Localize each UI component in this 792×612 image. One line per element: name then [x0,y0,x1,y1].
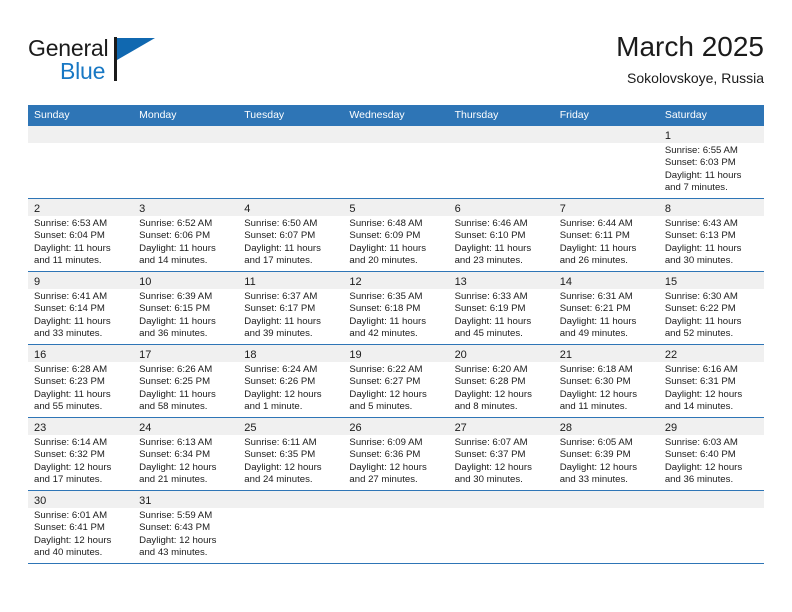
day-detail-line: Daylight: 12 hours [349,389,442,401]
day-detail-line: Sunset: 6:41 PM [34,522,127,534]
day-number-band [449,126,554,143]
week-row: 16Sunrise: 6:28 AMSunset: 6:23 PMDayligh… [28,345,764,418]
day-detail-line: and 8 minutes. [455,401,548,413]
day-detail-line: and 45 minutes. [455,328,548,340]
day-detail-line: Sunrise: 6:41 AM [34,291,127,303]
day-cell-empty [449,491,554,563]
day-cell-empty [343,126,448,198]
week-row: 1Sunrise: 6:55 AMSunset: 6:03 PMDaylight… [28,126,764,199]
day-detail-line: Daylight: 11 hours [139,389,232,401]
day-details: Sunrise: 6:41 AMSunset: 6:14 PMDaylight:… [28,289,133,340]
day-details: Sunrise: 6:11 AMSunset: 6:35 PMDaylight:… [238,435,343,486]
weekday-header-friday: Friday [554,105,659,126]
day-number: 28 [560,422,572,434]
day-cell-16[interactable]: 16Sunrise: 6:28 AMSunset: 6:23 PMDayligh… [28,345,133,417]
day-detail-line: Sunset: 6:31 PM [665,376,758,388]
day-number: 26 [349,422,361,434]
day-cell-11[interactable]: 11Sunrise: 6:37 AMSunset: 6:17 PMDayligh… [238,272,343,344]
day-detail-line: Sunrise: 6:35 AM [349,291,442,303]
day-detail-line: Daylight: 11 hours [455,316,548,328]
weekday-header-wednesday: Wednesday [343,105,448,126]
weekday-header-thursday: Thursday [449,105,554,126]
day-detail-line: and 42 minutes. [349,328,442,340]
general-blue-logo[interactable]: General Blue [28,35,208,91]
day-number: 20 [455,349,467,361]
day-cell-5[interactable]: 5Sunrise: 6:48 AMSunset: 6:09 PMDaylight… [343,199,448,271]
day-detail-line: and 14 minutes. [665,401,758,413]
day-detail-line: Sunset: 6:26 PM [244,376,337,388]
day-details: Sunrise: 6:48 AMSunset: 6:09 PMDaylight:… [343,216,448,267]
day-detail-line: Daylight: 11 hours [665,316,758,328]
day-detail-line: Daylight: 12 hours [244,389,337,401]
day-cell-23[interactable]: 23Sunrise: 6:14 AMSunset: 6:32 PMDayligh… [28,418,133,490]
day-detail-line: Sunset: 6:39 PM [560,449,653,461]
day-detail-line: Sunset: 6:10 PM [455,230,548,242]
calendar-body: 1Sunrise: 6:55 AMSunset: 6:03 PMDaylight… [28,126,764,564]
day-number-band [28,126,133,143]
day-details: Sunrise: 6:39 AMSunset: 6:15 PMDaylight:… [133,289,238,340]
day-detail-line: Daylight: 11 hours [455,243,548,255]
day-cell-17[interactable]: 17Sunrise: 6:26 AMSunset: 6:25 PMDayligh… [133,345,238,417]
day-detail-line: and 26 minutes. [560,255,653,267]
day-detail-line: Sunset: 6:36 PM [349,449,442,461]
day-detail-line: and 33 minutes. [560,474,653,486]
day-detail-line: Sunset: 6:14 PM [34,303,127,315]
day-detail-line: and 17 minutes. [34,474,127,486]
day-detail-line: Daylight: 12 hours [34,535,127,547]
day-detail-line: and 55 minutes. [34,401,127,413]
day-number-band: 10 [133,272,238,289]
day-detail-line: Sunset: 6:28 PM [455,376,548,388]
day-details: Sunrise: 6:35 AMSunset: 6:18 PMDaylight:… [343,289,448,340]
day-details: Sunrise: 6:16 AMSunset: 6:31 PMDaylight:… [659,362,764,413]
day-number-band: 27 [449,418,554,435]
day-cell-30[interactable]: 30Sunrise: 6:01 AMSunset: 6:41 PMDayligh… [28,491,133,563]
day-detail-line: Sunrise: 6:11 AM [244,437,337,449]
day-detail-line: Sunset: 6:19 PM [455,303,548,315]
day-detail-line: Sunset: 6:25 PM [139,376,232,388]
day-cell-22[interactable]: 22Sunrise: 6:16 AMSunset: 6:31 PMDayligh… [659,345,764,417]
day-detail-line: and 43 minutes. [139,547,232,559]
day-number-band: 7 [554,199,659,216]
day-detail-line: Sunrise: 6:55 AM [665,145,758,157]
day-detail-line: Sunset: 6:34 PM [139,449,232,461]
logo-flag-icon [117,38,155,60]
day-detail-line: Sunrise: 6:24 AM [244,364,337,376]
day-number: 14 [560,276,572,288]
day-cell-empty [133,126,238,198]
day-number-band: 16 [28,345,133,362]
day-number: 7 [560,203,566,215]
day-number-band [449,491,554,508]
day-number-band: 21 [554,345,659,362]
day-detail-line: Sunset: 6:23 PM [34,376,127,388]
day-detail-line: Sunset: 6:35 PM [244,449,337,461]
day-number-band: 24 [133,418,238,435]
day-detail-line: Sunrise: 6:33 AM [455,291,548,303]
day-details: Sunrise: 6:03 AMSunset: 6:40 PMDaylight:… [659,435,764,486]
day-number-band: 6 [449,199,554,216]
day-detail-line: Sunset: 6:21 PM [560,303,653,315]
day-cell-empty [554,126,659,198]
day-detail-line: Sunrise: 6:09 AM [349,437,442,449]
day-detail-line: and 21 minutes. [139,474,232,486]
day-number-band: 14 [554,272,659,289]
day-number-band: 3 [133,199,238,216]
day-details: Sunrise: 6:33 AMSunset: 6:19 PMDaylight:… [449,289,554,340]
day-detail-line: Daylight: 11 hours [139,316,232,328]
day-details: Sunrise: 6:20 AMSunset: 6:28 PMDaylight:… [449,362,554,413]
weekday-header-saturday: Saturday [659,105,764,126]
day-number: 15 [665,276,677,288]
day-detail-line: Sunset: 6:18 PM [349,303,442,315]
day-cell-27[interactable]: 27Sunrise: 6:07 AMSunset: 6:37 PMDayligh… [449,418,554,490]
day-number-band: 1 [659,126,764,143]
calendar-page: General Blue March 2025 Sokolovskoye, Ru… [0,0,792,612]
day-cell-15[interactable]: 15Sunrise: 6:30 AMSunset: 6:22 PMDayligh… [659,272,764,344]
day-detail-line: and 17 minutes. [244,255,337,267]
page-header: General Blue March 2025 Sokolovskoye, Ru… [28,30,764,98]
day-cell-24[interactable]: 24Sunrise: 6:13 AMSunset: 6:34 PMDayligh… [133,418,238,490]
day-detail-line: Daylight: 11 hours [560,243,653,255]
day-details: Sunrise: 6:09 AMSunset: 6:36 PMDaylight:… [343,435,448,486]
day-detail-line: and 33 minutes. [34,328,127,340]
day-details: Sunrise: 6:31 AMSunset: 6:21 PMDaylight:… [554,289,659,340]
day-number-band: 2 [28,199,133,216]
day-detail-line: and 11 minutes. [560,401,653,413]
day-number-band: 26 [343,418,448,435]
day-number-band: 22 [659,345,764,362]
week-row: 23Sunrise: 6:14 AMSunset: 6:32 PMDayligh… [28,418,764,491]
day-number: 30 [34,495,46,507]
week-row: 2Sunrise: 6:53 AMSunset: 6:04 PMDaylight… [28,199,764,272]
weekday-header-tuesday: Tuesday [238,105,343,126]
day-detail-line: Daylight: 12 hours [455,462,548,474]
day-number-band [659,491,764,508]
day-cell-empty [343,491,448,563]
day-cell-14[interactable]: 14Sunrise: 6:31 AMSunset: 6:21 PMDayligh… [554,272,659,344]
day-details: Sunrise: 6:07 AMSunset: 6:37 PMDaylight:… [449,435,554,486]
day-detail-line: Sunrise: 6:01 AM [34,510,127,522]
day-details: Sunrise: 6:53 AMSunset: 6:04 PMDaylight:… [28,216,133,267]
day-detail-line: Daylight: 11 hours [349,316,442,328]
day-detail-line: Sunrise: 5:59 AM [139,510,232,522]
day-cell-25[interactable]: 25Sunrise: 6:11 AMSunset: 6:35 PMDayligh… [238,418,343,490]
day-detail-line: Sunrise: 6:26 AM [139,364,232,376]
day-details: Sunrise: 6:28 AMSunset: 6:23 PMDaylight:… [28,362,133,413]
day-detail-line: Sunrise: 6:07 AM [455,437,548,449]
page-title: March 2025 [616,30,764,64]
day-number: 5 [349,203,355,215]
day-detail-line: and 40 minutes. [34,547,127,559]
day-detail-line: Sunset: 6:32 PM [34,449,127,461]
day-number: 17 [139,349,151,361]
day-number-band: 28 [554,418,659,435]
day-detail-line: Sunrise: 6:44 AM [560,218,653,230]
day-details: Sunrise: 6:22 AMSunset: 6:27 PMDaylight:… [343,362,448,413]
day-number: 9 [34,276,40,288]
day-number-band: 18 [238,345,343,362]
day-details: Sunrise: 6:26 AMSunset: 6:25 PMDaylight:… [133,362,238,413]
day-number-band: 15 [659,272,764,289]
day-number-band: 11 [238,272,343,289]
day-details: Sunrise: 6:30 AMSunset: 6:22 PMDaylight:… [659,289,764,340]
day-detail-line: Sunrise: 6:30 AM [665,291,758,303]
day-details: Sunrise: 6:44 AMSunset: 6:11 PMDaylight:… [554,216,659,267]
day-cell-10[interactable]: 10Sunrise: 6:39 AMSunset: 6:15 PMDayligh… [133,272,238,344]
day-number-band: 20 [449,345,554,362]
day-number: 29 [665,422,677,434]
weekday-header-sunday: Sunday [28,105,133,126]
day-cell-26[interactable]: 26Sunrise: 6:09 AMSunset: 6:36 PMDayligh… [343,418,448,490]
day-number: 24 [139,422,151,434]
day-detail-line: Daylight: 11 hours [665,170,758,182]
day-cell-6[interactable]: 6Sunrise: 6:46 AMSunset: 6:10 PMDaylight… [449,199,554,271]
day-detail-line: Sunrise: 6:20 AM [455,364,548,376]
day-number: 18 [244,349,256,361]
day-cell-2[interactable]: 2Sunrise: 6:53 AMSunset: 6:04 PMDaylight… [28,199,133,271]
day-detail-line: Sunset: 6:13 PM [665,230,758,242]
day-cell-29[interactable]: 29Sunrise: 6:03 AMSunset: 6:40 PMDayligh… [659,418,764,490]
day-number-band: 9 [28,272,133,289]
day-number-band: 31 [133,491,238,508]
day-detail-line: Sunset: 6:43 PM [139,522,232,534]
day-number-band [343,126,448,143]
day-detail-line: and 5 minutes. [349,401,442,413]
day-details: Sunrise: 6:37 AMSunset: 6:17 PMDaylight:… [238,289,343,340]
day-detail-line: and 36 minutes. [665,474,758,486]
day-cell-empty [238,491,343,563]
day-detail-line: Sunset: 6:06 PM [139,230,232,242]
day-number: 2 [34,203,40,215]
day-detail-line: Daylight: 11 hours [139,243,232,255]
day-cell-1[interactable]: 1Sunrise: 6:55 AMSunset: 6:03 PMDaylight… [659,126,764,198]
day-detail-line: Sunset: 6:27 PM [349,376,442,388]
day-number: 4 [244,203,250,215]
day-detail-line: Sunrise: 6:37 AM [244,291,337,303]
day-number: 8 [665,203,671,215]
day-number: 12 [349,276,361,288]
day-number: 22 [665,349,677,361]
day-number-band [343,491,448,508]
day-details: Sunrise: 6:14 AMSunset: 6:32 PMDaylight:… [28,435,133,486]
day-cell-21[interactable]: 21Sunrise: 6:18 AMSunset: 6:30 PMDayligh… [554,345,659,417]
day-detail-line: Sunrise: 6:52 AM [139,218,232,230]
day-detail-line: and 11 minutes. [34,255,127,267]
day-detail-line: Daylight: 11 hours [34,243,127,255]
day-cell-12[interactable]: 12Sunrise: 6:35 AMSunset: 6:18 PMDayligh… [343,272,448,344]
day-details: Sunrise: 6:52 AMSunset: 6:06 PMDaylight:… [133,216,238,267]
day-cell-28[interactable]: 28Sunrise: 6:05 AMSunset: 6:39 PMDayligh… [554,418,659,490]
day-number-band: 29 [659,418,764,435]
day-cell-19[interactable]: 19Sunrise: 6:22 AMSunset: 6:27 PMDayligh… [343,345,448,417]
day-number-band [238,126,343,143]
day-detail-line: Sunset: 6:11 PM [560,230,653,242]
day-detail-line: Daylight: 11 hours [349,243,442,255]
day-cell-31[interactable]: 31Sunrise: 5:59 AMSunset: 6:43 PMDayligh… [133,491,238,563]
day-detail-line: Daylight: 12 hours [560,389,653,401]
day-detail-line: Sunrise: 6:31 AM [560,291,653,303]
day-details: Sunrise: 6:01 AMSunset: 6:41 PMDaylight:… [28,508,133,559]
day-number: 25 [244,422,256,434]
day-number-band: 30 [28,491,133,508]
day-number-band [133,126,238,143]
day-detail-line: and 14 minutes. [139,255,232,267]
day-detail-line: Sunrise: 6:43 AM [665,218,758,230]
day-number: 1 [665,130,671,142]
day-detail-line: and 52 minutes. [665,328,758,340]
day-detail-line: Sunrise: 6:14 AM [34,437,127,449]
day-detail-line: Daylight: 11 hours [244,243,337,255]
day-number-band: 23 [28,418,133,435]
day-detail-line: Sunrise: 6:48 AM [349,218,442,230]
day-number-band: 4 [238,199,343,216]
day-number: 19 [349,349,361,361]
day-detail-line: Sunrise: 6:39 AM [139,291,232,303]
day-detail-line: Sunrise: 6:05 AM [560,437,653,449]
day-detail-line: Sunset: 6:30 PM [560,376,653,388]
day-cell-empty [554,491,659,563]
day-number-band: 5 [343,199,448,216]
day-detail-line: Daylight: 11 hours [244,316,337,328]
day-detail-line: Sunset: 6:15 PM [139,303,232,315]
logo-text-blue: Blue [60,58,105,85]
day-detail-line: and 1 minute. [244,401,337,413]
day-number-band: 17 [133,345,238,362]
day-number: 3 [139,203,145,215]
weekday-header-row: SundayMondayTuesdayWednesdayThursdayFrid… [28,105,764,126]
day-detail-line: and 24 minutes. [244,474,337,486]
day-detail-line: Sunrise: 6:16 AM [665,364,758,376]
day-details: Sunrise: 5:59 AMSunset: 6:43 PMDaylight:… [133,508,238,559]
day-detail-line: and 20 minutes. [349,255,442,267]
day-detail-line: and 36 minutes. [139,328,232,340]
day-cell-13[interactable]: 13Sunrise: 6:33 AMSunset: 6:19 PMDayligh… [449,272,554,344]
location-subtitle: Sokolovskoye, Russia [616,68,764,88]
day-detail-line: Sunrise: 6:22 AM [349,364,442,376]
day-detail-line: Sunset: 6:40 PM [665,449,758,461]
day-number: 10 [139,276,151,288]
day-cell-empty [238,126,343,198]
day-number-band: 19 [343,345,448,362]
day-detail-line: Sunrise: 6:46 AM [455,218,548,230]
day-detail-line: Sunrise: 6:18 AM [560,364,653,376]
day-details: Sunrise: 6:43 AMSunset: 6:13 PMDaylight:… [659,216,764,267]
day-number: 21 [560,349,572,361]
week-row: 9Sunrise: 6:41 AMSunset: 6:14 PMDaylight… [28,272,764,345]
day-detail-line: Sunset: 6:04 PM [34,230,127,242]
day-cell-empty [659,491,764,563]
day-details: Sunrise: 6:50 AMSunset: 6:07 PMDaylight:… [238,216,343,267]
day-detail-line: Daylight: 12 hours [665,462,758,474]
day-details: Sunrise: 6:18 AMSunset: 6:30 PMDaylight:… [554,362,659,413]
day-detail-line: Daylight: 12 hours [560,462,653,474]
day-detail-line: Daylight: 12 hours [34,462,127,474]
day-details: Sunrise: 6:24 AMSunset: 6:26 PMDaylight:… [238,362,343,413]
day-detail-line: Sunset: 6:37 PM [455,449,548,461]
day-detail-line: Daylight: 12 hours [665,389,758,401]
week-row: 30Sunrise: 6:01 AMSunset: 6:41 PMDayligh… [28,491,764,564]
day-detail-line: and 30 minutes. [455,474,548,486]
day-cell-4[interactable]: 4Sunrise: 6:50 AMSunset: 6:07 PMDaylight… [238,199,343,271]
day-detail-line: Daylight: 12 hours [455,389,548,401]
day-number: 6 [455,203,461,215]
day-detail-line: Daylight: 12 hours [244,462,337,474]
day-number-band: 12 [343,272,448,289]
day-detail-line: Daylight: 11 hours [665,243,758,255]
title-block: March 2025 Sokolovskoye, Russia [616,30,764,88]
day-number-band [554,491,659,508]
day-detail-line: Sunrise: 6:28 AM [34,364,127,376]
day-number: 13 [455,276,467,288]
day-detail-line: Sunrise: 6:03 AM [665,437,758,449]
day-detail-line: Sunset: 6:22 PM [665,303,758,315]
day-detail-line: Sunrise: 6:13 AM [139,437,232,449]
day-detail-line: Sunset: 6:09 PM [349,230,442,242]
day-detail-line: and 39 minutes. [244,328,337,340]
day-number: 27 [455,422,467,434]
day-number: 31 [139,495,151,507]
day-detail-line: Sunset: 6:07 PM [244,230,337,242]
day-detail-line: Sunrise: 6:53 AM [34,218,127,230]
day-details: Sunrise: 6:46 AMSunset: 6:10 PMDaylight:… [449,216,554,267]
day-details: Sunrise: 6:13 AMSunset: 6:34 PMDaylight:… [133,435,238,486]
day-details: Sunrise: 6:05 AMSunset: 6:39 PMDaylight:… [554,435,659,486]
day-detail-line: Daylight: 12 hours [139,462,232,474]
day-number: 16 [34,349,46,361]
day-number-band [238,491,343,508]
day-cell-7[interactable]: 7Sunrise: 6:44 AMSunset: 6:11 PMDaylight… [554,199,659,271]
day-cell-20[interactable]: 20Sunrise: 6:20 AMSunset: 6:28 PMDayligh… [449,345,554,417]
day-detail-line: and 23 minutes. [455,255,548,267]
day-number-band: 25 [238,418,343,435]
day-detail-line: Sunset: 6:17 PM [244,303,337,315]
day-cell-18[interactable]: 18Sunrise: 6:24 AMSunset: 6:26 PMDayligh… [238,345,343,417]
day-number-band: 8 [659,199,764,216]
day-cell-9[interactable]: 9Sunrise: 6:41 AMSunset: 6:14 PMDaylight… [28,272,133,344]
day-detail-line: Daylight: 11 hours [560,316,653,328]
day-number-band [554,126,659,143]
weekday-header-monday: Monday [133,105,238,126]
day-number: 11 [244,276,255,288]
day-number: 23 [34,422,46,434]
calendar-grid: SundayMondayTuesdayWednesdayThursdayFrid… [28,105,764,564]
day-cell-8[interactable]: 8Sunrise: 6:43 AMSunset: 6:13 PMDaylight… [659,199,764,271]
day-detail-line: and 49 minutes. [560,328,653,340]
day-detail-line: Daylight: 12 hours [139,535,232,547]
day-detail-line: and 58 minutes. [139,401,232,413]
day-cell-3[interactable]: 3Sunrise: 6:52 AMSunset: 6:06 PMDaylight… [133,199,238,271]
day-number-band: 13 [449,272,554,289]
day-detail-line: Daylight: 11 hours [34,389,127,401]
day-detail-line: and 30 minutes. [665,255,758,267]
day-details: Sunrise: 6:55 AMSunset: 6:03 PMDaylight:… [659,143,764,194]
day-detail-line: Sunrise: 6:50 AM [244,218,337,230]
day-detail-line: and 7 minutes. [665,182,758,194]
day-cell-empty [28,126,133,198]
day-detail-line: Daylight: 12 hours [349,462,442,474]
day-detail-line: and 27 minutes. [349,474,442,486]
day-cell-empty [449,126,554,198]
day-detail-line: Daylight: 11 hours [34,316,127,328]
day-detail-line: Sunset: 6:03 PM [665,157,758,169]
